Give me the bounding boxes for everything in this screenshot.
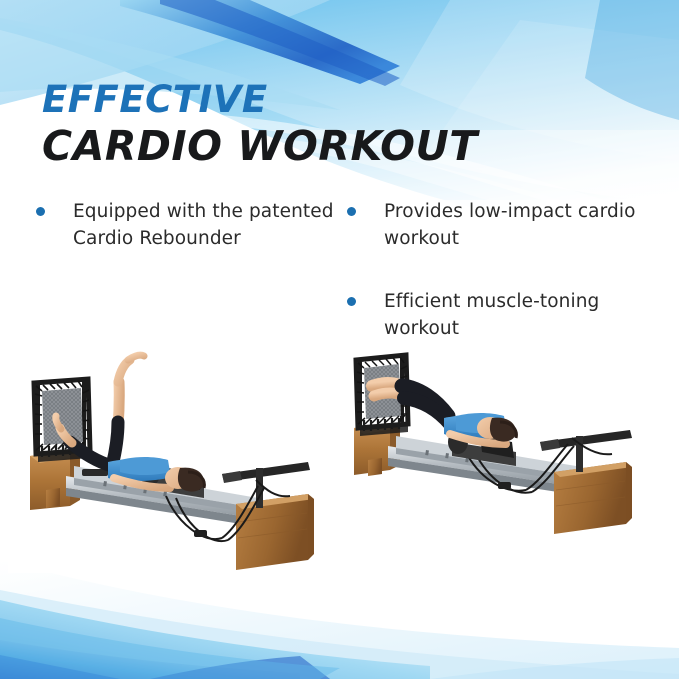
promo-banner: EFFECTIVE CARDIO WORKOUT Equipped with t… (0, 0, 679, 679)
bullet-dot-icon (347, 297, 356, 306)
bullet-dot-icon (347, 207, 356, 216)
list-item: Equipped with the patented Cardio Reboun… (36, 198, 336, 252)
bullet-text: Equipped with the patented Cardio Reboun… (73, 198, 336, 252)
bullet-text: Efficient muscle-toning workout (384, 288, 667, 342)
product-photo-legs-up (8, 338, 328, 573)
reformer-wood-box-right (554, 462, 632, 534)
bullet-text: Provides low-impact cardio workout (384, 198, 667, 252)
product-photo-feet-on-rebounder (340, 338, 670, 538)
product-photo-row (0, 338, 679, 578)
list-item: Efficient muscle-toning workout (347, 288, 667, 342)
bullet-dot-icon (36, 207, 45, 216)
page-title-line-1: EFFECTIVE (42, 78, 602, 122)
heading-block: EFFECTIVE CARDIO WORKOUT (42, 78, 602, 170)
page-title-line-2: CARDIO WORKOUT (42, 122, 602, 170)
list-item: Provides low-impact cardio workout (347, 198, 667, 252)
